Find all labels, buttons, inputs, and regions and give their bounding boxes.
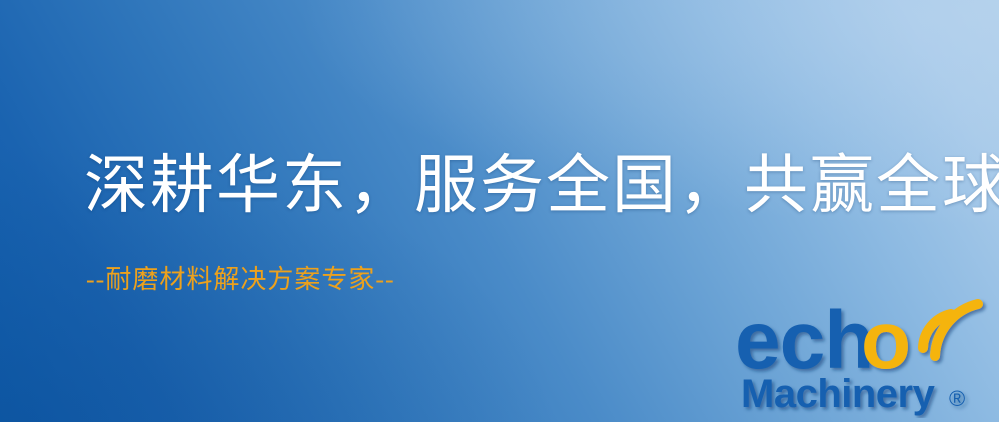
banner-headline: 深耕华东，服务全国，共赢全球 [84,152,999,219]
logo-tagline-machinery: Machinery [741,372,936,416]
signal-arcs-icon [923,304,978,356]
banner-subtitle: --耐磨材料解决方案专家-- [86,264,395,295]
promo-banner: 深耕华东，服务全国，共赢全球 --耐磨材料解决方案专家-- ech o Mach… [0,0,999,422]
logo-trademark-symbol: ® [949,386,965,411]
logo-graphic: ech o Machinery ® [733,292,991,418]
echo-machinery-logo: ech o Machinery ® [733,292,991,418]
